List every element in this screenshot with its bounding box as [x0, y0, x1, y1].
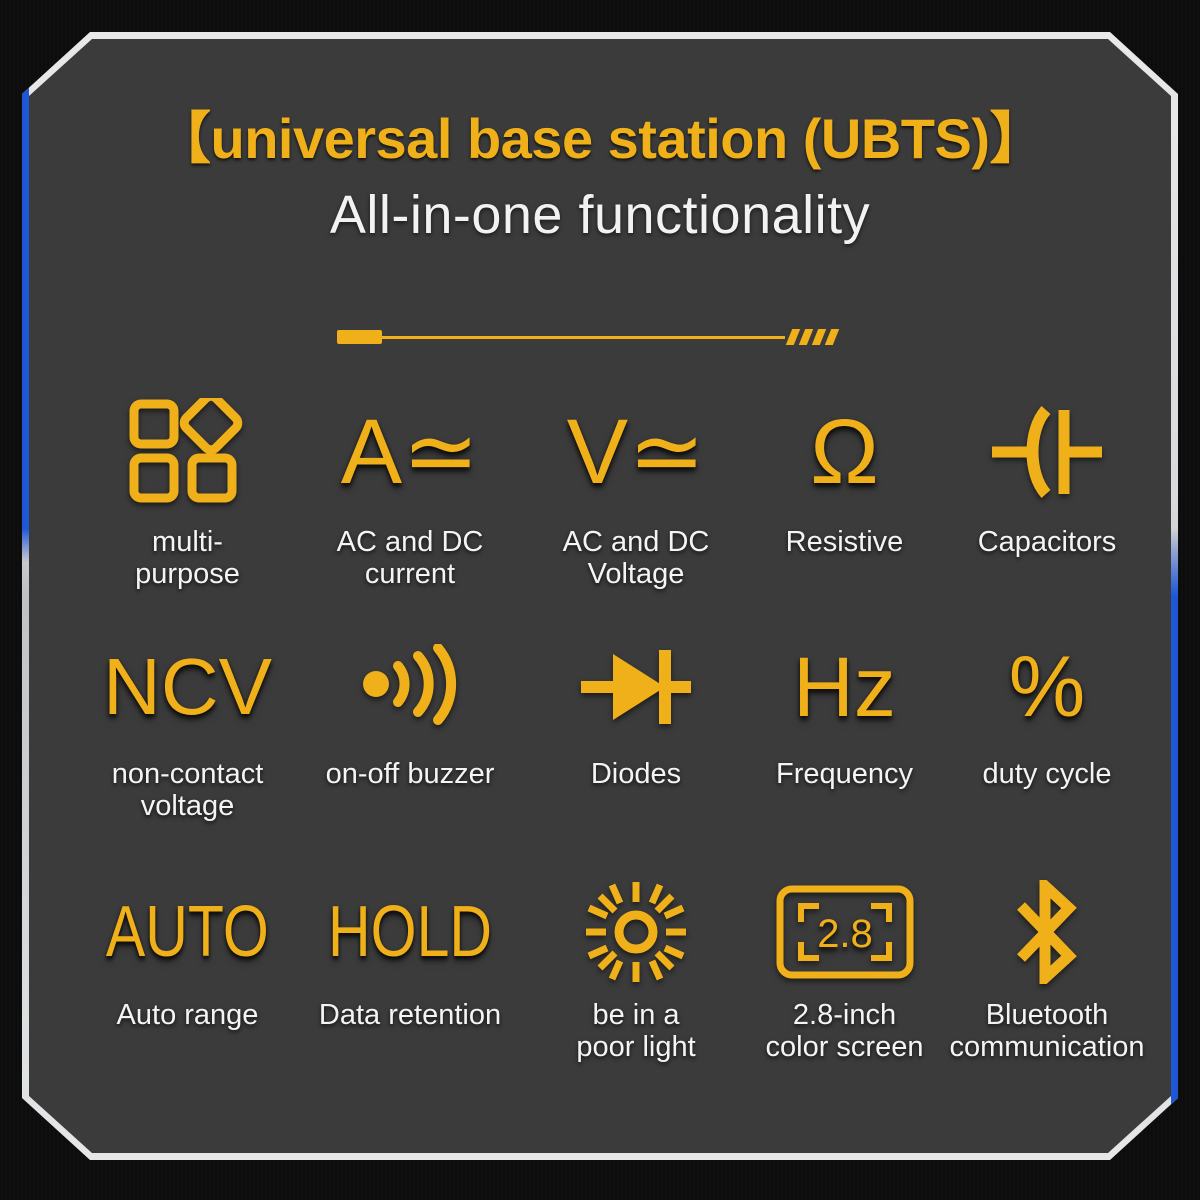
feature-label: AC and DC current — [337, 526, 484, 591]
feature-color-screen: 2.8 2.8-inch color screen — [747, 877, 942, 1064]
feature-label: Data retention — [319, 999, 501, 1031]
diode-icon — [579, 632, 693, 742]
feature-row: multi- purpose A≃ AC and DC current V≃ A… — [80, 392, 1156, 632]
feature-panel: 【universal base station (UBTS)】 All-in-o… — [22, 32, 1178, 1160]
feature-row: AUTO Auto range HOLD Data retention — [80, 877, 1156, 1107]
feature-ac-dc-voltage: V≃ AC and DC Voltage — [525, 392, 747, 591]
feature-auto-range: AUTO Auto range — [80, 877, 295, 1031]
divider-slash — [825, 329, 839, 345]
feature-label: Capacitors — [978, 526, 1117, 558]
divider-slash — [799, 329, 813, 345]
feature-label: Bluetooth communication — [949, 999, 1144, 1064]
feature-diodes: Diodes — [525, 632, 747, 790]
capacitor-icon — [988, 392, 1106, 512]
multi-purpose-squares-icon — [128, 392, 248, 512]
feature-resistance: Ω Resistive — [747, 392, 942, 558]
feature-frequency: Hz Frequency — [747, 632, 942, 790]
divider-slash — [812, 329, 826, 345]
color-screen-icon: 2.8 — [775, 877, 915, 987]
feature-backlight: be in a poor light — [525, 877, 747, 1064]
ohm-resistance-icon: Ω — [810, 392, 879, 512]
auto-range-icon: AUTO — [106, 877, 269, 987]
feature-grid: multi- purpose A≃ AC and DC current V≃ A… — [80, 392, 1156, 1107]
svg-text:2.8: 2.8 — [817, 912, 873, 956]
feature-row: NCV non-contact voltage — [80, 632, 1156, 877]
data-hold-icon: HOLD — [328, 877, 492, 987]
feature-label: Auto range — [117, 999, 259, 1031]
page-subtitle: All-in-one functionality — [22, 184, 1178, 246]
feature-label: Diodes — [591, 758, 681, 790]
feature-label: Frequency — [776, 758, 913, 790]
infographic-root: 【universal base station (UBTS)】 All-in-o… — [0, 0, 1200, 1200]
feature-label: AC and DC Voltage — [563, 526, 710, 591]
ncv-icon: NCV — [103, 632, 272, 742]
feature-duty-cycle: % duty cycle — [942, 632, 1152, 790]
feature-multi-purpose: multi- purpose — [80, 392, 295, 591]
percent-icon: % — [1009, 632, 1085, 742]
feature-bluetooth: Bluetooth communication — [942, 877, 1152, 1064]
ac-dc-voltage-icon: V≃ — [567, 392, 705, 512]
feature-label: duty cycle — [983, 758, 1112, 790]
divider-slash — [786, 329, 800, 345]
feature-ncv: NCV non-contact voltage — [80, 632, 295, 823]
feature-data-hold: HOLD Data retention — [295, 877, 525, 1031]
feature-label: Resistive — [786, 526, 904, 558]
feature-label: on-off buzzer — [326, 758, 495, 790]
divider-block — [337, 330, 382, 344]
feature-ac-dc-current: A≃ AC and DC current — [295, 392, 525, 591]
backlight-sun-icon — [584, 877, 688, 987]
bluetooth-icon — [1009, 877, 1085, 987]
feature-capacitors: Capacitors — [942, 392, 1152, 558]
feature-label: 2.8-inch color screen — [766, 999, 924, 1064]
buzzer-icon — [356, 632, 464, 742]
feature-buzzer: on-off buzzer — [295, 632, 525, 790]
feature-label: non-contact voltage — [112, 758, 264, 823]
feature-label: multi- purpose — [135, 526, 240, 591]
divider-ornament — [337, 325, 827, 349]
ac-dc-current-icon: A≃ — [341, 392, 479, 512]
feature-label: be in a poor light — [576, 999, 695, 1064]
hertz-icon: Hz — [793, 632, 896, 742]
page-title: 【universal base station (UBTS)】 — [22, 94, 1178, 175]
divider-line — [337, 336, 785, 339]
